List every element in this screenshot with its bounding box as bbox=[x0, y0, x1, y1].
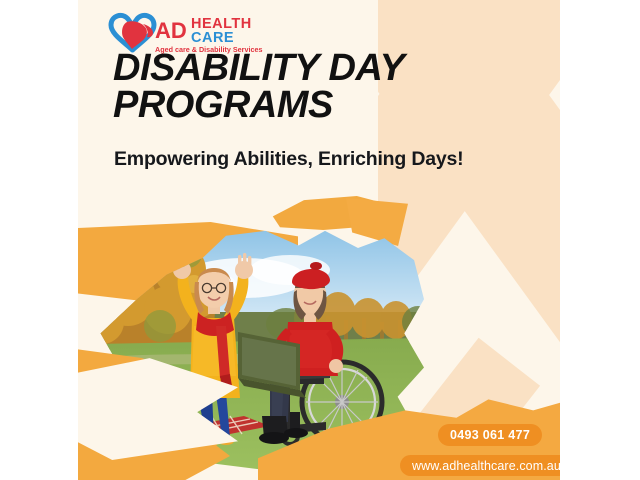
poster-advertisement: AD HEALTH CARE Aged care & Disability Se… bbox=[0, 0, 640, 480]
page-title: DISABILITY DAY PROGRAMS bbox=[113, 50, 533, 124]
subtitle: Empowering Abilities, Enriching Days! bbox=[114, 148, 544, 171]
poster-canvas: AD HEALTH CARE Aged care & Disability Se… bbox=[78, 0, 560, 480]
headline-line-1: DISABILITY DAY bbox=[113, 47, 404, 89]
logo-text-care: CARE bbox=[191, 30, 234, 46]
logo-text-ad: AD bbox=[155, 18, 187, 43]
website-url-text: www.adhealthcare.com.au bbox=[412, 459, 560, 473]
headline-line-2: PROGRAMS bbox=[113, 87, 533, 124]
phone-number-badge[interactable]: 0493 061 477 bbox=[438, 424, 542, 446]
website-url-badge[interactable]: www.adhealthcare.com.au bbox=[400, 455, 560, 476]
phone-number-text: 0493 061 477 bbox=[450, 428, 530, 442]
